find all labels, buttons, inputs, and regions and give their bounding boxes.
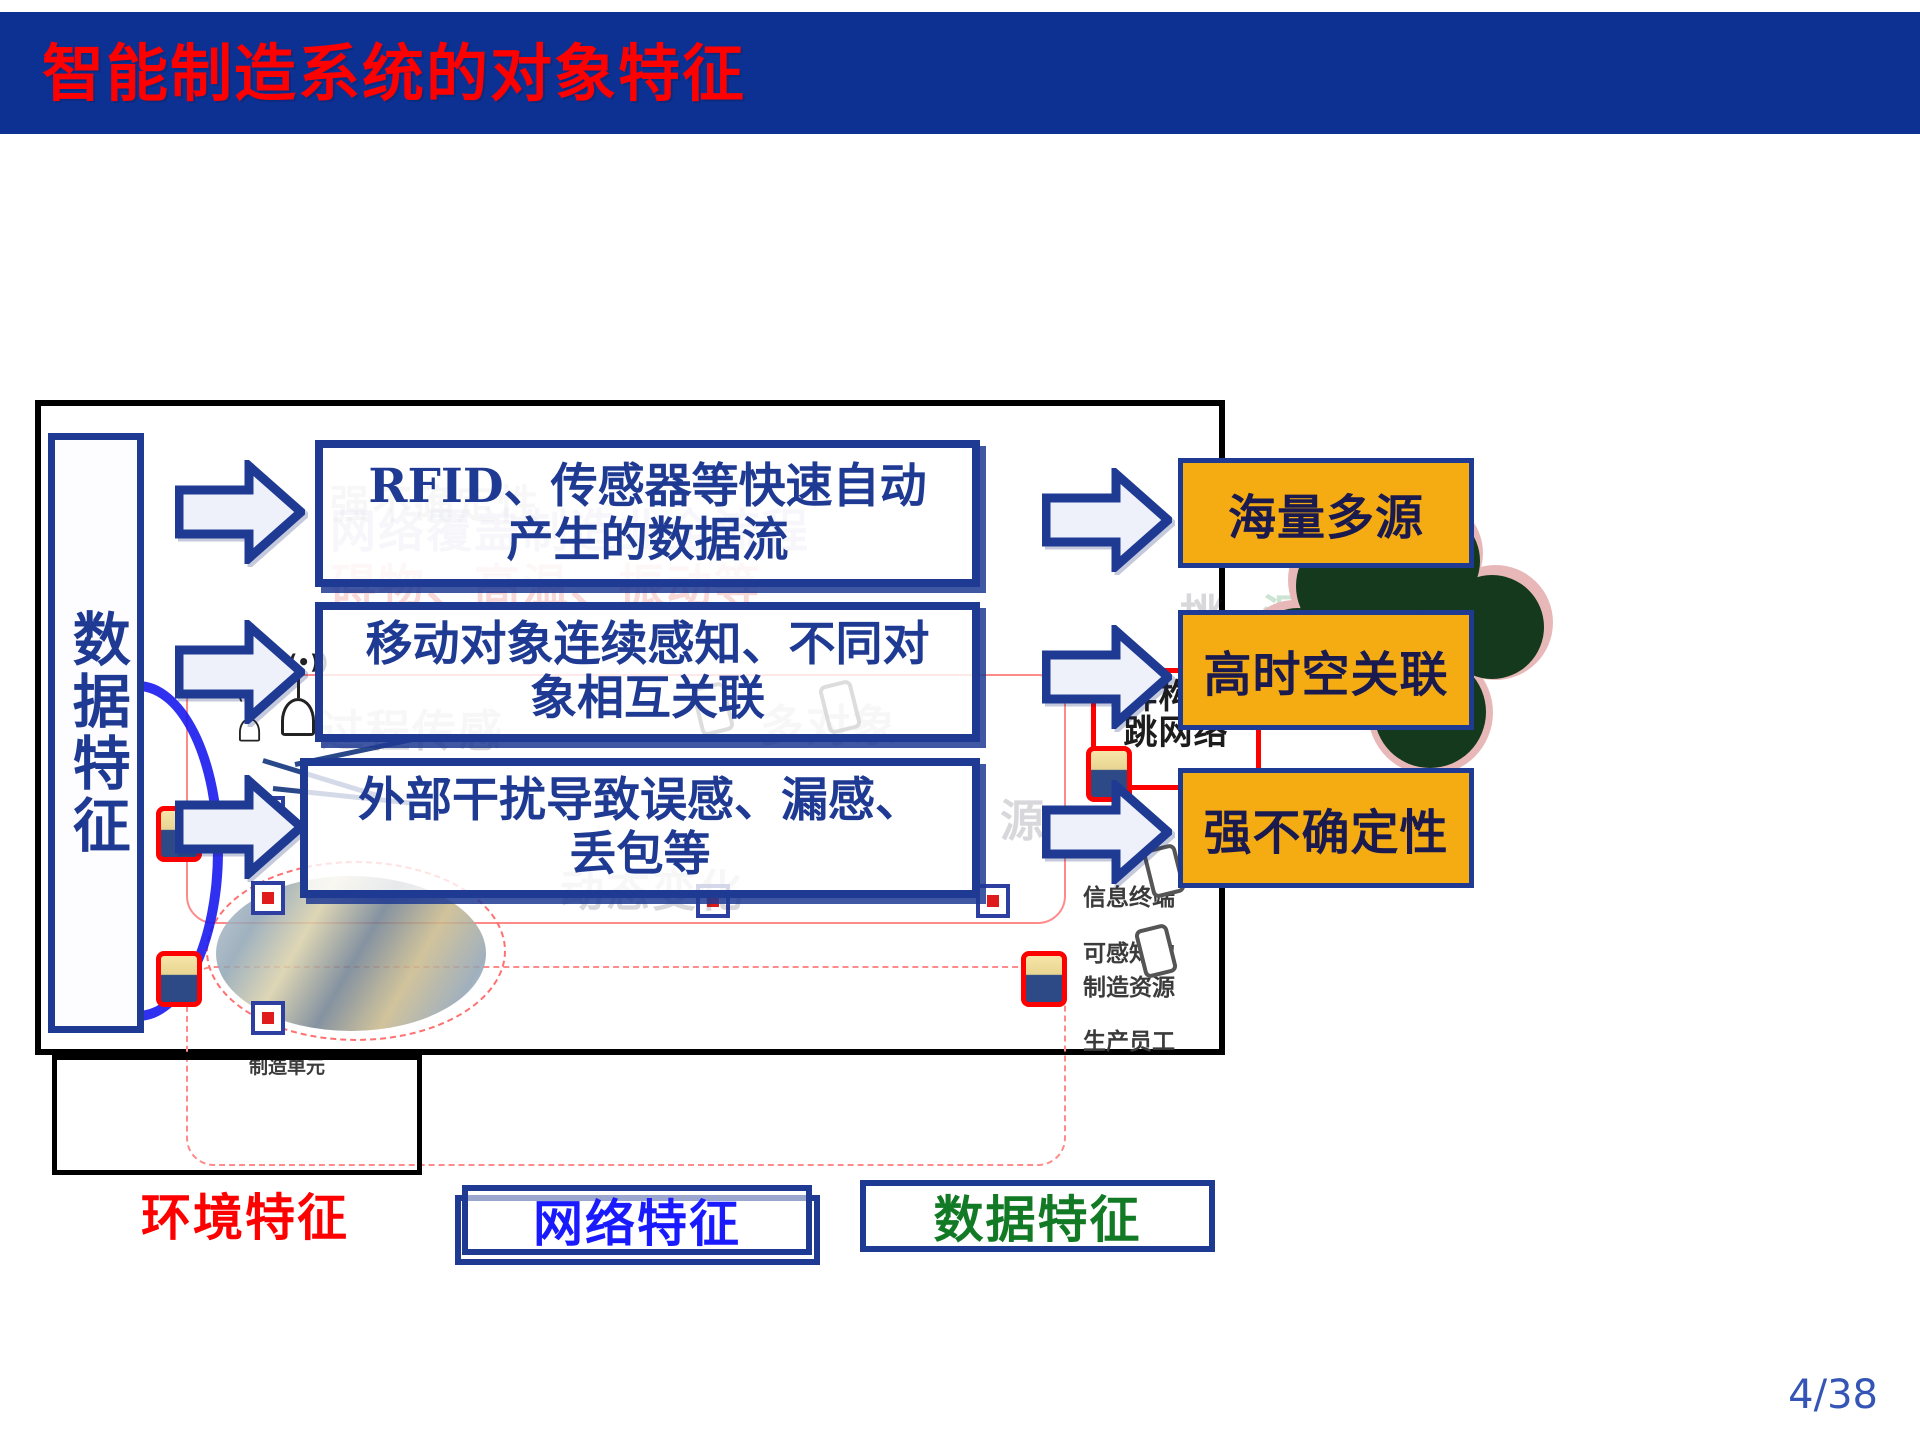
- result-text-3: 强不确定性: [1203, 793, 1448, 863]
- category-label-network: 网络特征: [462, 1185, 812, 1255]
- arrow-left-3: [175, 775, 305, 879]
- statement-2-line2: 象相互关联: [530, 671, 765, 726]
- statement-3-line2: 丢包等: [570, 827, 711, 882]
- ghost-text-resource: 源: [1000, 785, 1046, 849]
- page-title: 智能制造系统的对象特征: [42, 23, 746, 113]
- result-text-2: 高时空关联: [1203, 635, 1448, 705]
- arrow-right-3: [1042, 780, 1172, 884]
- manufacturing-cell-icon: [976, 884, 1010, 918]
- figure-label-production-staff: 生产员工: [1083, 1022, 1175, 1056]
- arrow-left-2: [175, 620, 305, 724]
- statement-1-line1-rest: 、传感器等快速自动: [504, 459, 927, 514]
- statement-1-line2: 产生的数据流: [506, 513, 788, 568]
- category-env-text: 环境特征: [141, 1178, 349, 1250]
- arrow-left-1: [175, 460, 305, 564]
- result-box-1: 海量多源: [1178, 458, 1474, 568]
- statement-2-line1: 移动对象连续感知、不同对: [366, 617, 930, 672]
- banner-underline: [0, 124, 1920, 134]
- slide-title-banner: 智能制造系统的对象特征: [0, 12, 1920, 124]
- category-label-data: 数据特征: [860, 1180, 1215, 1252]
- statement-1-latin: RFID: [368, 459, 503, 514]
- category-net-text: 网络特征: [533, 1184, 741, 1256]
- statement-box-1: RFID、传感器等快速自动 产生的数据流: [315, 440, 980, 587]
- production-worker-icon: [1021, 951, 1067, 1007]
- statement-box-2: 移动对象连续感知、不同对 象相互关联: [315, 602, 980, 742]
- page-number: 4/38: [1788, 1372, 1878, 1418]
- result-box-3: 强不确定性: [1178, 768, 1474, 888]
- production-worker-icon: [156, 951, 202, 1007]
- statement-text-1: RFID、传感器等快速自动 产生的数据流: [368, 460, 926, 567]
- statement-3-line1: 外部干扰导致误感、漏感、: [358, 773, 922, 828]
- statement-text-2: 移动对象连续感知、不同对 象相互关联: [366, 618, 930, 725]
- result-box-2: 高时空关联: [1178, 610, 1474, 730]
- category-data-text: 数据特征: [934, 1180, 1142, 1252]
- diagram-canvas: 异构多跳网络 移动AP 信息终端 可感知的 制造资源 生产员工 制造单元 ((•…: [0, 150, 1920, 1330]
- result-text-1: 海量多源: [1228, 478, 1424, 548]
- left-vertical-label-text: 数据特征: [65, 609, 126, 857]
- arrow-right-1: [1042, 468, 1172, 572]
- manufacturing-cell-icon: [251, 881, 285, 915]
- category-label-environment: 环境特征: [120, 1175, 370, 1253]
- statement-text-3: 外部干扰导致误感、漏感、 丢包等: [358, 774, 922, 881]
- left-vertical-label-box: 数据特征: [48, 433, 144, 1033]
- arrow-right-2: [1042, 625, 1172, 729]
- bottom-frame-left: [52, 1055, 422, 1175]
- statement-box-3: 外部干扰导致误感、漏感、 丢包等: [300, 758, 980, 898]
- manufacturing-cell-icon: [251, 1001, 285, 1035]
